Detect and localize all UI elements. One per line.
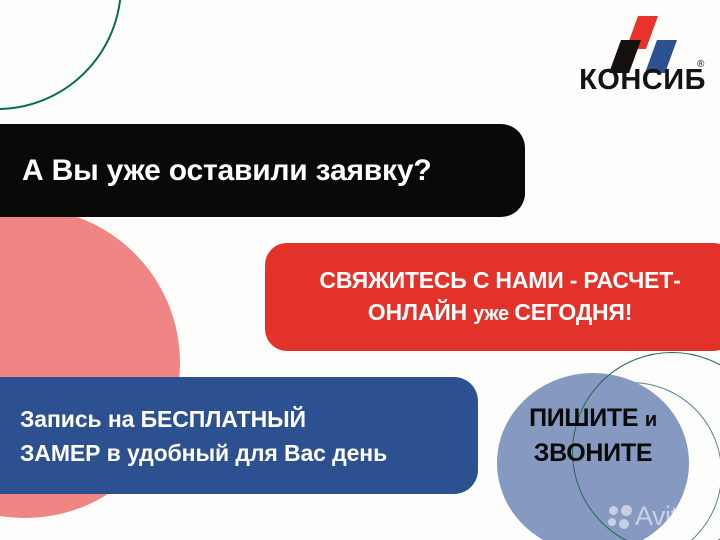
contact-cta-write: ПИШИТЕ [529, 404, 645, 432]
free-measurement-line-1: Запись на БЕСПЛАТНЫЙ [20, 406, 306, 432]
avito-watermark: Avito [608, 500, 716, 534]
logo-wordmark: КОНСИБ [575, 64, 710, 96]
contact-cta-call: ЗВОНИТЕ [534, 439, 652, 467]
free-measurement-text: Запись на БЕСПЛАТНЫЙ ЗАМЕР в удобный для… [20, 402, 387, 470]
registered-trademark-icon: ® [697, 60, 704, 70]
avito-dot-1 [609, 506, 618, 515]
logo-mark-group [575, 14, 710, 66]
offer-line-2-today: СЕГОДНЯ! [514, 299, 632, 325]
offer-text: СВЯЖИТЕСЬ С НАМИ - РАСЧЕТ- ОНЛАЙН уже СЕ… [283, 264, 717, 330]
avito-dot-4 [619, 519, 629, 529]
avito-wordmark: Avito [635, 500, 692, 532]
avito-dot-2 [621, 505, 632, 516]
offer-line-2-online: ОНЛАЙН [368, 299, 473, 325]
contact-cta-text: ПИШИТЕ и ЗВОНИТЕ [497, 402, 689, 470]
offer-line-1: СВЯЖИТЕСЬ С НАМИ - РАСЧЕТ- [319, 267, 680, 293]
headline-block: А Вы уже оставили заявку? [0, 124, 525, 217]
avito-dots-icon [608, 505, 634, 529]
offer-line-2-already: уже [473, 303, 514, 325]
avito-dot-3 [608, 518, 616, 526]
headline-text: А Вы уже оставили заявку? [22, 154, 431, 188]
promo-banner-canvas: КОНСИБ ® А Вы уже оставили заявку? СВЯЖИ… [0, 0, 720, 540]
decorative-circle-outline-top-left [0, 0, 122, 110]
offer-block: СВЯЖИТЕСЬ С НАМИ - РАСЧЕТ- ОНЛАЙН уже СЕ… [265, 243, 720, 351]
brand-logo: КОНСИБ ® [575, 14, 710, 100]
free-measurement-line-2: ЗАМЕР в удобный для Вас день [20, 440, 387, 466]
free-measurement-block: Запись на БЕСПЛАТНЫЙ ЗАМЕР в удобный для… [0, 377, 478, 494]
contact-cta-and: и [645, 409, 657, 431]
